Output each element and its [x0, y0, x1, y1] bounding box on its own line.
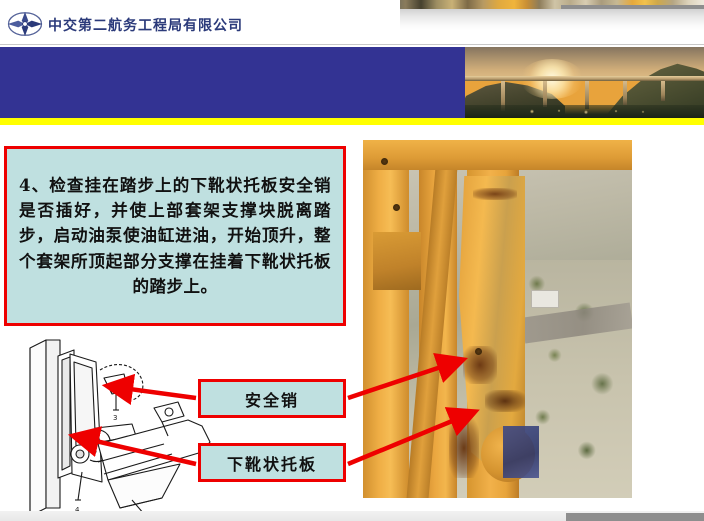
callout-safety-pin: 安全销	[198, 379, 346, 418]
callout-lower-bracket: 下靴状托板	[198, 443, 346, 482]
callout-lower-bracket-label: 下靴状托板	[227, 451, 317, 475]
diagram-part-3: 3	[113, 414, 117, 422]
bridge-pier	[623, 81, 627, 105]
photo-rust-stain	[449, 418, 479, 478]
photo-steel-beam	[363, 140, 409, 498]
slide-canvas: 中交第二航务工程局有限公司 4、检查挂在踏步上的下靴状托板安全销是否插好，并使上…	[0, 0, 704, 521]
company-name: 中交第二航务工程局有限公司	[48, 15, 243, 35]
construction-photo	[363, 140, 632, 498]
top-fade	[393, 9, 704, 31]
bottom-bar-accent	[566, 513, 704, 521]
photo-rust-stain	[485, 390, 525, 412]
bridge-pier	[543, 81, 547, 107]
bridge-lights	[517, 108, 667, 115]
instruction-textbox: 4、检查挂在踏步上的下靴状托板安全销是否插好，并使上部套架支撑块脱离踏步，启动油…	[4, 146, 346, 326]
header-divider	[0, 44, 704, 45]
callout-safety-pin-label: 安全销	[245, 387, 299, 411]
photo-bolt	[381, 158, 388, 165]
bridge-pier	[661, 81, 665, 101]
photo-blue-tarp	[503, 426, 539, 478]
photo-building	[531, 290, 559, 308]
compass-star-logo-icon	[7, 11, 43, 37]
top-photo-strip	[393, 0, 704, 9]
yellow-accent-strip	[0, 118, 704, 125]
banner-bridge-photo	[465, 47, 704, 118]
photo-rust-stain	[473, 188, 517, 200]
instruction-text: 4、检查挂在踏步上的下靴状托板安全销是否插好，并使上部套架支撑块脱离踏步，启动油…	[7, 169, 343, 302]
photo-gearbox	[373, 232, 421, 290]
header-bar: 中交第二航务工程局有限公司	[0, 0, 400, 45]
photo-bolt	[475, 348, 482, 355]
photo-bolt	[393, 204, 400, 211]
technical-diagram: 3 4 1	[12, 332, 242, 518]
photo-top-beam	[363, 140, 632, 170]
